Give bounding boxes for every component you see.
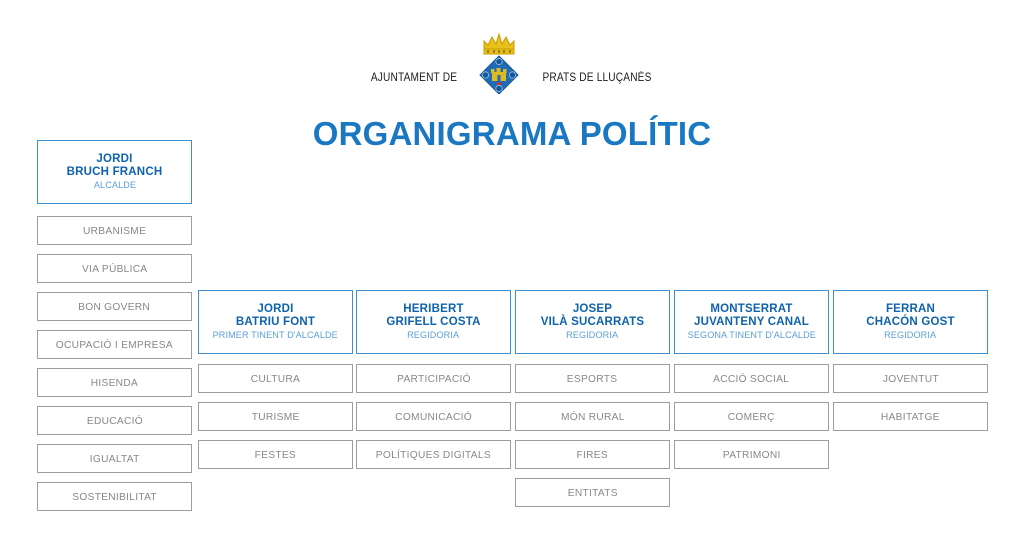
department-label: CULTURA (251, 373, 300, 385)
department-label: ESPORTS (567, 373, 618, 385)
department-label: FIRES (577, 449, 608, 461)
person-role: PRIMER TINENT D'ALCALDE (213, 330, 338, 342)
person-last-name: CHACÓN GOST (866, 316, 954, 329)
department-box[interactable]: PARTICIPACIÓ (356, 364, 511, 393)
person-last-name: VILÀ SUCARRATS (541, 316, 645, 329)
person-role: SEGONA TINENT D'ALCALDE (687, 330, 815, 342)
person-card-primer-tinent[interactable]: JORDIBATRIU FONTPRIMER TINENT D'ALCALDE (198, 290, 353, 354)
department-label: JOVENTUT (882, 373, 938, 385)
department-box[interactable]: ACCIÓ SOCIAL (674, 364, 829, 393)
department-label: COMERÇ (728, 411, 775, 423)
person-first-name: HERIBERT (403, 303, 463, 316)
department-label: PARTICIPACIÓ (397, 373, 471, 385)
gold-crown-icon (484, 34, 514, 54)
department-label: TURISME (252, 411, 300, 423)
person-last-name: JUVANTENY CANAL (694, 316, 809, 329)
person-first-name: JOSEP (573, 303, 612, 316)
person-card-segona-tinent[interactable]: MONTSERRATJUVANTENY CANALSEGONA TINENT D… (674, 290, 829, 354)
person-last-name: BRUCH FRANCH (67, 166, 163, 179)
department-box[interactable]: SOSTENIBILITAT (37, 482, 192, 511)
department-label: URBANISME (83, 225, 146, 237)
person-role: REGIDORIA (407, 330, 459, 342)
department-box[interactable]: PATRIMONI (674, 440, 829, 469)
person-first-name: JORDI (257, 303, 293, 316)
department-box[interactable]: ESPORTS (515, 364, 670, 393)
person-role: REGIDORIA (566, 330, 618, 342)
department-box[interactable]: HISENDA (37, 368, 192, 397)
department-box[interactable]: POLÍTIQUES DIGITALS (356, 440, 511, 469)
department-label: ACCIÓ SOCIAL (714, 373, 790, 385)
person-last-name: GRIFELL COSTA (386, 316, 480, 329)
department-box[interactable]: HABITATGE (833, 402, 988, 431)
logo-text-left: AJUNTAMENT DE (371, 72, 457, 94)
person-first-name: FERRAN (886, 303, 935, 316)
department-label: ENTITATS (567, 487, 617, 499)
department-label: FESTES (255, 449, 296, 461)
department-label: VIA PÚBLICA (82, 263, 147, 275)
department-box[interactable]: COMERÇ (674, 402, 829, 431)
blue-diamond-shield-icon (480, 56, 518, 94)
department-box[interactable]: JOVENTUT (833, 364, 988, 393)
department-box[interactable]: FESTES (198, 440, 353, 469)
department-label: HISENDA (91, 377, 138, 389)
department-label: IGUALTAT (90, 453, 140, 465)
department-box[interactable]: EDUCACIÓ (37, 406, 192, 435)
person-role: ALCALDE (93, 180, 135, 192)
department-box[interactable]: FIRES (515, 440, 670, 469)
department-label: COMUNICACIÓ (395, 411, 472, 423)
department-box[interactable]: TURISME (198, 402, 353, 431)
department-label: HABITATGE (881, 411, 940, 423)
organisation-logo: AJUNTAMENT DE (0, 28, 1024, 94)
department-box[interactable]: URBANISME (37, 216, 192, 245)
department-box[interactable]: VIA PÚBLICA (37, 254, 192, 283)
department-box[interactable]: COMUNICACIÓ (356, 402, 511, 431)
department-box[interactable]: MÓN RURAL (515, 402, 670, 431)
person-card-grifell[interactable]: HERIBERTGRIFELL COSTAREGIDORIA (356, 290, 511, 354)
logo-text-right: PRATS DE LLUÇANÈS (542, 72, 651, 94)
town-coat-of-arms-icon (470, 28, 528, 94)
person-card-chacon[interactable]: FERRANCHACÓN GOSTREGIDORIA (833, 290, 988, 354)
person-first-name: JORDI (96, 153, 132, 166)
department-label: PATRIMONI (723, 449, 781, 461)
department-box[interactable]: CULTURA (198, 364, 353, 393)
person-card-alcalde[interactable]: JORDIBRUCH FRANCHALCALDE (37, 140, 192, 204)
department-label: BON GOVERN (79, 301, 151, 313)
person-role: REGIDORIA (884, 330, 936, 342)
person-last-name: BATRIU FONT (236, 316, 315, 329)
department-label: EDUCACIÓ (86, 415, 142, 427)
department-box[interactable]: ENTITATS (515, 478, 670, 507)
person-first-name: MONTSERRAT (710, 303, 792, 316)
department-box[interactable]: OCUPACIÓ I EMPRESA (37, 330, 192, 359)
person-card-vila[interactable]: JOSEPVILÀ SUCARRATSREGIDORIA (515, 290, 670, 354)
department-label: SOSTENIBILITAT (72, 491, 157, 503)
department-label: MÓN RURAL (561, 411, 625, 423)
department-label: OCUPACIÓ I EMPRESA (56, 339, 173, 351)
department-box[interactable]: IGUALTAT (37, 444, 192, 473)
department-box[interactable]: BON GOVERN (37, 292, 192, 321)
department-label: POLÍTIQUES DIGITALS (376, 449, 491, 461)
